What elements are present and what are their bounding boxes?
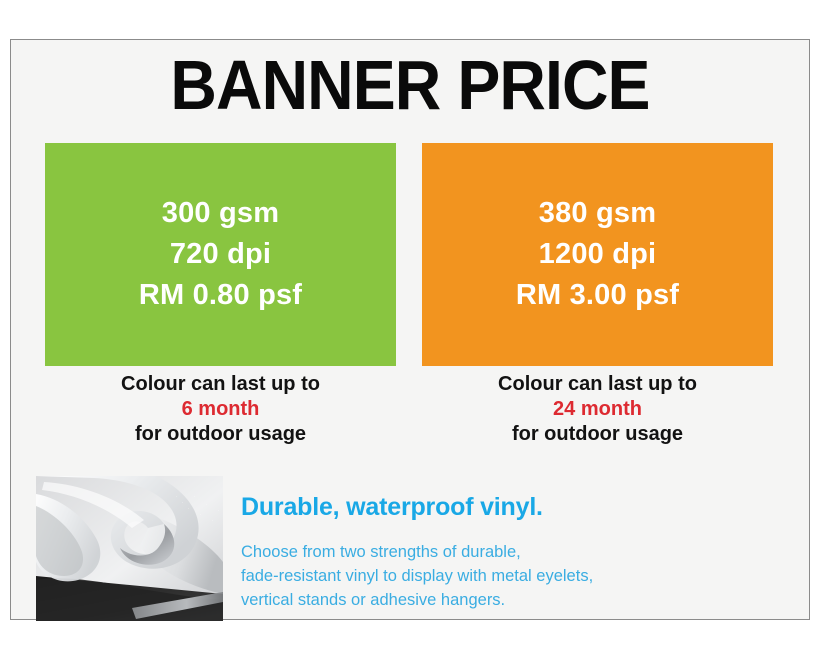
spec-card-standard: 300 gsm 720 dpi RM 0.80 psf [45, 143, 396, 366]
spec-weight: 300 gsm [162, 193, 279, 234]
caption-line-3: for outdoor usage [45, 422, 396, 447]
footer-body-line: vertical stands or adhesive hangers. [241, 588, 661, 612]
caption-line-1: Colour can last up to [422, 372, 773, 397]
caption-duration: 6 month [45, 397, 396, 422]
spec-resolution: 1200 dpi [539, 234, 657, 275]
spec-resolution: 720 dpi [170, 234, 271, 275]
caption-duration: 24 month [422, 397, 773, 422]
footer-body-line: Choose from two strengths of durable, [241, 540, 661, 564]
spec-card-premium: 380 gsm 1200 dpi RM 3.00 psf [422, 143, 773, 366]
footer-text-block: Durable, waterproof vinyl. Choose from t… [241, 492, 661, 612]
caption-premium: Colour can last up to 24 month for outdo… [422, 372, 773, 447]
page-title: BANNER PRICE [33, 48, 787, 122]
spec-price: RM 3.00 psf [516, 275, 679, 316]
caption-standard: Colour can last up to 6 month for outdoo… [45, 372, 396, 447]
caption-line-1: Colour can last up to [45, 372, 396, 397]
vinyl-roll-photo [36, 476, 223, 621]
caption-line-3: for outdoor usage [422, 422, 773, 447]
footer-heading: Durable, waterproof vinyl. [241, 492, 661, 522]
footer-body: Choose from two strengths of durable, fa… [241, 540, 661, 612]
banner-price-poster: BANNER PRICE 300 gsm 720 dpi RM 0.80 psf… [0, 0, 820, 655]
spec-price: RM 0.80 psf [139, 275, 302, 316]
footer-body-line: fade-resistant vinyl to display with met… [241, 564, 661, 588]
spec-weight: 380 gsm [539, 193, 656, 234]
